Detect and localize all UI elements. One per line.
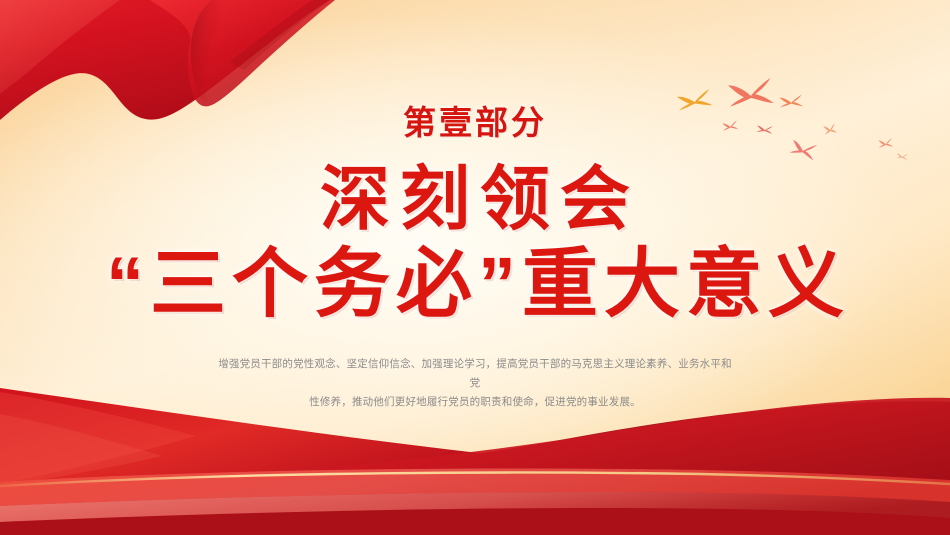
slide-content: 第壹部分 深刻领会 “三个务必”重大意义 增强党员干部的党性观念、坚定信仰信念、… <box>0 0 950 535</box>
subtitle-block: 增强党员干部的党性观念、坚定信仰信念、加强理论学习，提高党员干部的马克思主义理论… <box>215 355 735 412</box>
section-label: 第壹部分 <box>0 96 950 144</box>
title-line-1: 深刻领会 <box>0 160 950 238</box>
subtitle-line-2: 性修养，推动他们更好地履行党员的职责和使命，促进党的事业发展。 <box>275 393 675 412</box>
title-line-2: “三个务必”重大意义 <box>0 243 950 327</box>
subtitle-line-1: 增强党员干部的党性观念、坚定信仰信念、加强理论学习，提高党员干部的马克思主义理论… <box>215 355 735 393</box>
presentation-slide: 第壹部分 深刻领会 “三个务必”重大意义 增强党员干部的党性观念、坚定信仰信念、… <box>0 0 950 535</box>
